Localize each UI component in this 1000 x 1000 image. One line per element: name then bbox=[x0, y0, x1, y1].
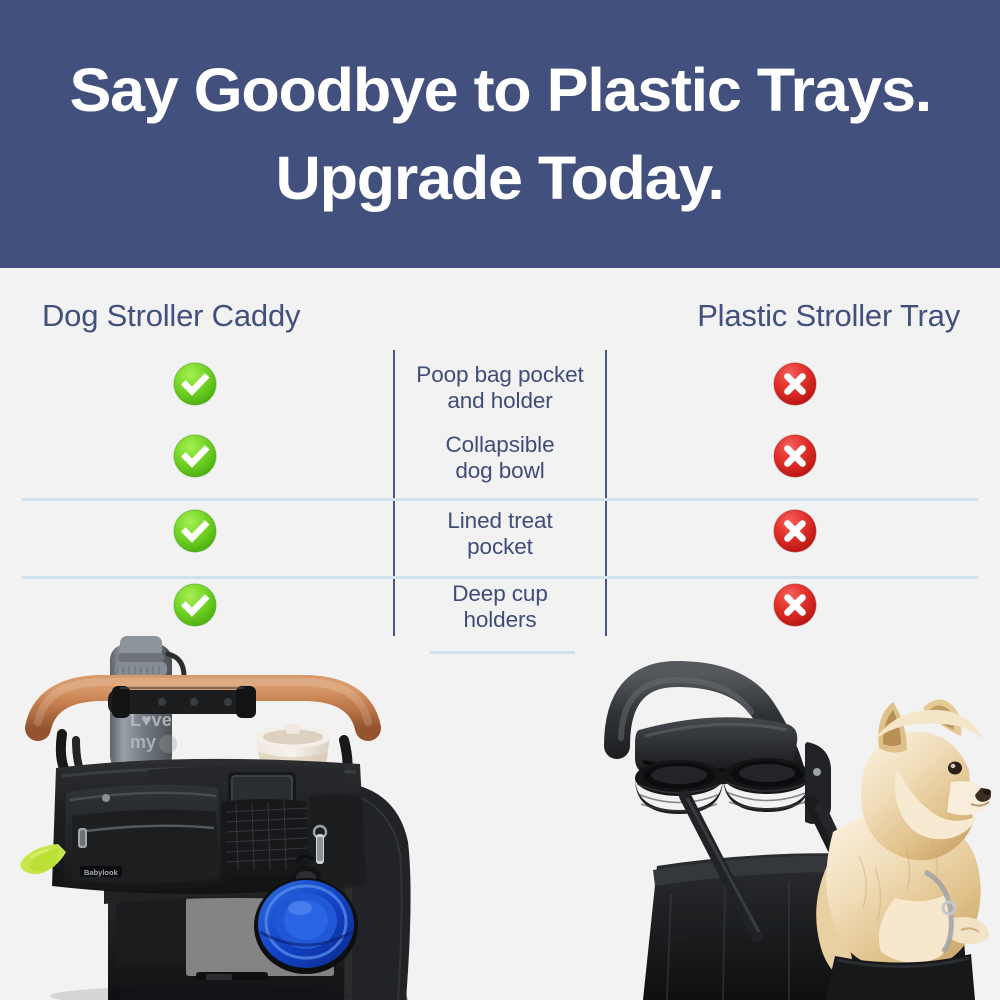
cross-icon bbox=[773, 434, 817, 478]
feature-label-line-2: and holder bbox=[447, 388, 552, 413]
banner-headline-line-2: Upgrade Today. bbox=[276, 134, 724, 222]
check-icon bbox=[173, 362, 217, 406]
feature-label-line-2: dog bowl bbox=[455, 458, 544, 483]
check-icon bbox=[173, 583, 217, 627]
plastic-stroller-tray-photo bbox=[575, 636, 1000, 1000]
comparison-grid: Poop bag pocket and holder bbox=[0, 350, 1000, 640]
feature-label-line-1: Poop bag pocket bbox=[416, 362, 583, 387]
cross-icon bbox=[773, 583, 817, 627]
header-banner: Say Goodbye to Plastic Trays. Upgrade To… bbox=[0, 0, 1000, 268]
check-icon bbox=[173, 509, 217, 553]
feature-label: Poop bag pocket and holder bbox=[394, 362, 606, 414]
check-icon bbox=[173, 434, 217, 478]
feature-label-line-2: pocket bbox=[467, 534, 533, 559]
column-header-right: Plastic Stroller Tray bbox=[697, 298, 960, 334]
column-header-left: Dog Stroller Caddy bbox=[42, 298, 300, 334]
cross-icon bbox=[773, 362, 817, 406]
promo-comparison-page: Say Goodbye to Plastic Trays. Upgrade To… bbox=[0, 0, 1000, 1000]
feature-label: Lined treat pocket bbox=[394, 508, 606, 560]
feature-label-line-1: Lined treat bbox=[447, 508, 552, 533]
svg-text:my: my bbox=[130, 732, 156, 752]
banner-headline-line-1: Say Goodbye to Plastic Trays. bbox=[69, 46, 931, 134]
table-row: Collapsible dog bowl bbox=[0, 418, 1000, 495]
dog-stroller-caddy-photo: L♥ve my bbox=[0, 636, 430, 1000]
feature-label-line-1: Deep cup bbox=[452, 581, 548, 606]
comparison-table: Dog Stroller Caddy Plastic Stroller Tray bbox=[0, 268, 1000, 640]
feature-label: Collapsible dog bowl bbox=[394, 432, 606, 484]
cross-icon bbox=[773, 509, 817, 553]
feature-label-line-1: Collapsible bbox=[446, 432, 555, 457]
table-row: Poop bag pocket and holder bbox=[0, 350, 1000, 418]
feature-label-line-2: holders bbox=[463, 607, 536, 632]
feature-label: Deep cup holders bbox=[394, 581, 606, 633]
table-row: Deep cup holders bbox=[0, 570, 1000, 640]
svg-text:Babylook: Babylook bbox=[84, 868, 119, 877]
table-row: Lined treat pocket bbox=[0, 495, 1000, 570]
